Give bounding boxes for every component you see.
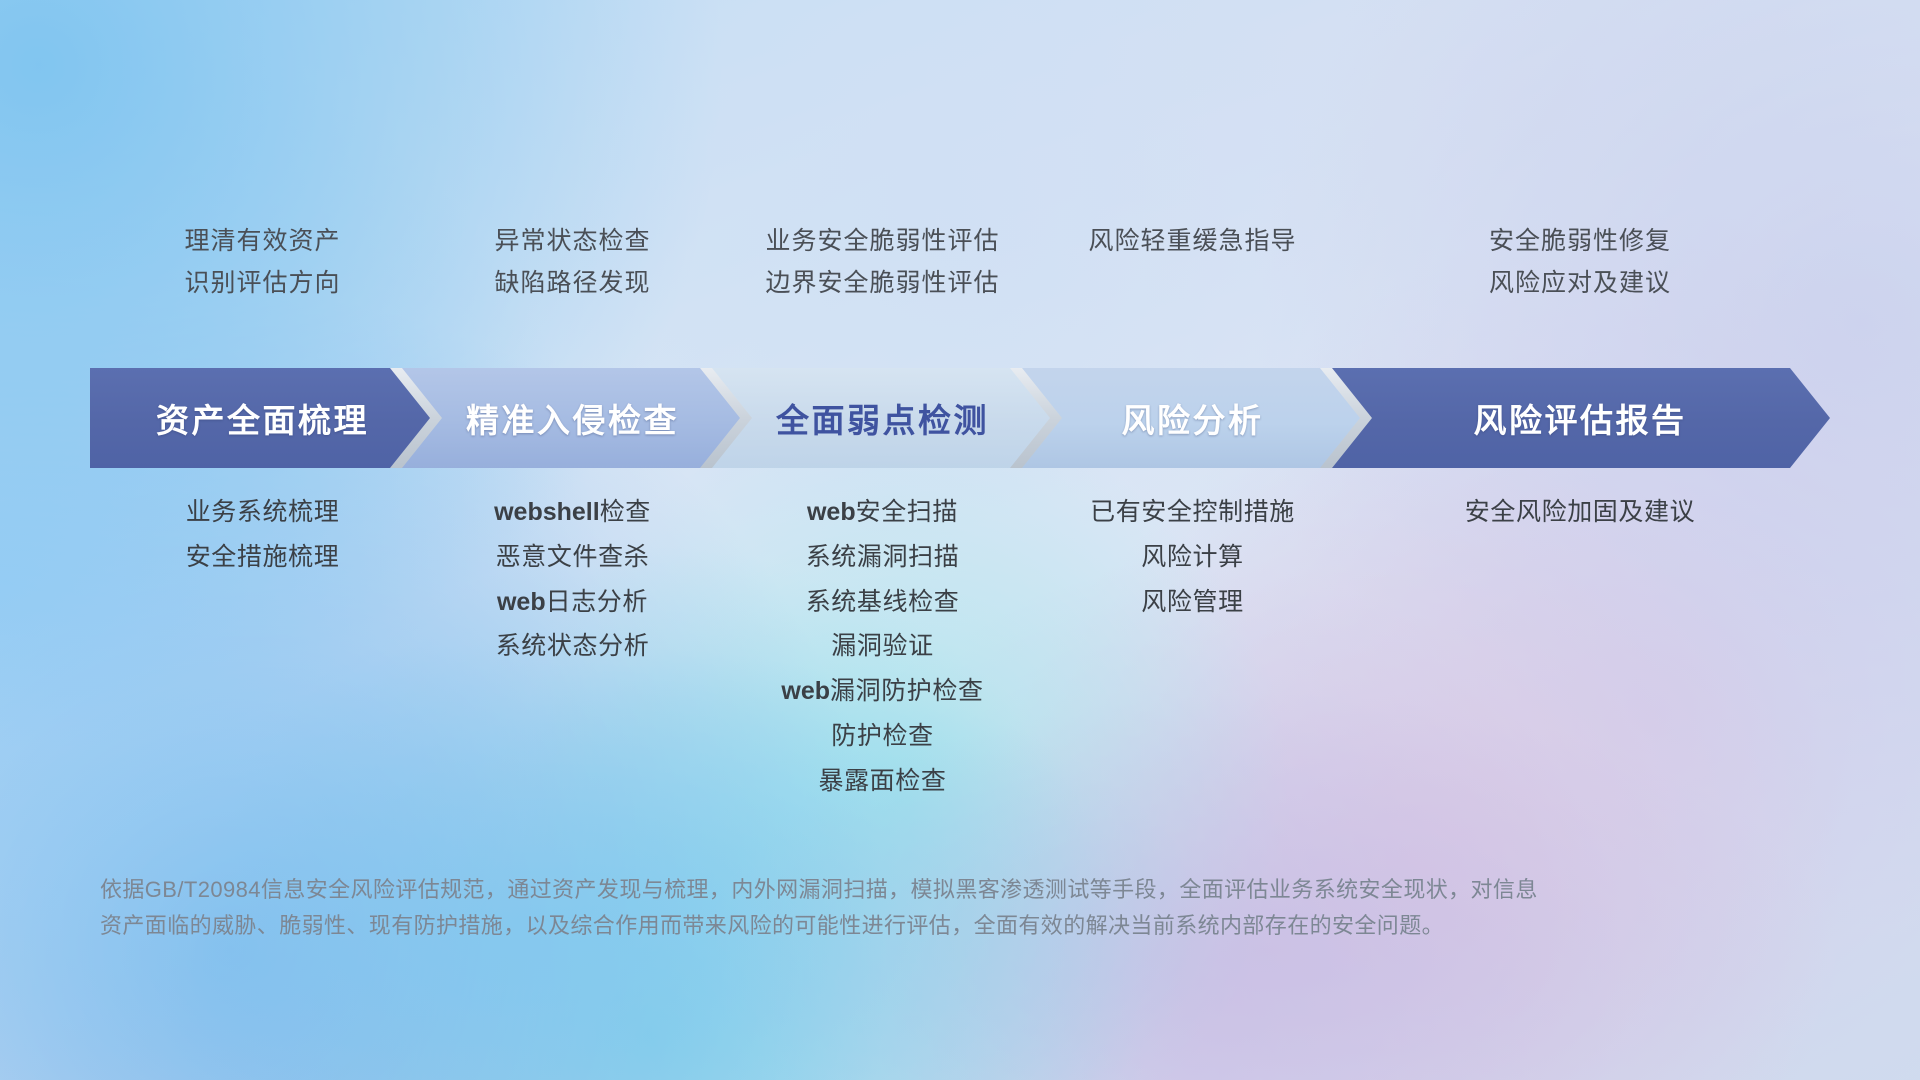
top-label-item: 边界安全脆弱性评估 bbox=[765, 270, 999, 298]
bottom-label-item: 恶意文件查杀 bbox=[496, 543, 650, 572]
bottom-labels-risk-analysis: 已有安全控制措施风险计算风险管理 bbox=[1020, 498, 1365, 616]
top-label-item: 安全脆弱性修复 bbox=[1489, 228, 1671, 256]
bottom-label-item: 防护检查 bbox=[831, 722, 933, 751]
bottom-labels-asset-inventory: 业务系统梳理安全措施梳理 bbox=[90, 498, 435, 572]
stage-label-asset-inventory: 资产全面梳理 bbox=[156, 394, 369, 442]
top-labels-risk-analysis: 风险轻重缓急指导 bbox=[1020, 228, 1365, 266]
bottom-label-item: webshell检查 bbox=[494, 498, 651, 527]
bottom-label-item: web安全扫描 bbox=[807, 498, 958, 527]
stage-label-risk-analysis: 风险分析 bbox=[1122, 394, 1264, 442]
stage-label-intrusion-check: 精准入侵检查 bbox=[466, 394, 679, 442]
bottom-labels-intrusion-check: webshell检查恶意文件查杀web日志分析系统状态分析 bbox=[400, 498, 745, 661]
bottom-label-item: 安全措施梳理 bbox=[186, 543, 340, 572]
bottom-label-item: web漏洞防护检查 bbox=[781, 677, 983, 706]
top-label-item: 风险应对及建议 bbox=[1489, 270, 1671, 298]
footer-line-2: 资产面临的威胁、脆弱性、现有防护措施，以及综合作用而带来风险的可能性进行评估，全… bbox=[100, 908, 1640, 944]
process-chevron-band: 资产全面梳理精准入侵检查全面弱点检测风险分析风险评估报告 bbox=[0, 368, 1920, 468]
bottom-label-item: 暴露面检查 bbox=[818, 767, 946, 796]
bottom-label-item: 系统漏洞扫描 bbox=[806, 543, 960, 572]
stage-label-risk-report: 风险评估报告 bbox=[1474, 394, 1687, 442]
process-stage-risk-report[interactable]: 风险评估报告 bbox=[1330, 368, 1830, 468]
label-keyword: web bbox=[497, 588, 546, 616]
bottom-labels-risk-report: 安全风险加固及建议 bbox=[1330, 498, 1830, 527]
top-label-item: 缺陷路径发现 bbox=[494, 270, 650, 298]
top-labels-asset-inventory: 理清有效资产识别评估方向 bbox=[90, 228, 435, 297]
bottom-labels-weakness-detection: web安全扫描系统漏洞扫描系统基线检查漏洞验证web漏洞防护检查防护检查暴露面检… bbox=[710, 498, 1055, 795]
process-stage-risk-analysis[interactable]: 风险分析 bbox=[1020, 368, 1365, 468]
bottom-label-item: 漏洞验证 bbox=[831, 632, 933, 661]
bottom-label-item: 安全风险加固及建议 bbox=[1465, 498, 1695, 527]
bottom-label-item: web日志分析 bbox=[497, 588, 648, 617]
footer-line-1: 依据GB/T20984信息安全风险评估规范，通过资产发现与梳理，内外网漏洞扫描，… bbox=[100, 872, 1640, 908]
top-labels-intrusion-check: 异常状态检查缺陷路径发现 bbox=[400, 228, 745, 297]
top-label-item: 理清有效资产 bbox=[184, 228, 340, 256]
process-stage-intrusion-check[interactable]: 精准入侵检查 bbox=[400, 368, 745, 468]
top-labels-weakness-detection: 业务安全脆弱性评估边界安全脆弱性评估 bbox=[710, 228, 1055, 297]
label-keyword: webshell bbox=[494, 498, 600, 526]
process-stage-asset-inventory[interactable]: 资产全面梳理 bbox=[90, 368, 435, 468]
bottom-label-item: 风险计算 bbox=[1141, 543, 1243, 572]
label-keyword: web bbox=[781, 677, 830, 705]
footer-description: 依据GB/T20984信息安全风险评估规范，通过资产发现与梳理，内外网漏洞扫描，… bbox=[100, 872, 1640, 944]
top-labels-risk-report: 安全脆弱性修复风险应对及建议 bbox=[1330, 228, 1830, 297]
stage-label-weakness-detection: 全面弱点检测 bbox=[776, 394, 989, 442]
top-label-row: 理清有效资产识别评估方向异常状态检查缺陷路径发现业务安全脆弱性评估边界安全脆弱性… bbox=[0, 228, 1920, 338]
label-keyword: web bbox=[807, 498, 856, 526]
top-label-item: 识别评估方向 bbox=[184, 270, 340, 298]
bottom-label-item: 系统基线检查 bbox=[806, 588, 960, 617]
top-label-item: 异常状态检查 bbox=[494, 228, 650, 256]
process-stage-weakness-detection[interactable]: 全面弱点检测 bbox=[710, 368, 1055, 468]
bottom-label-item: 业务系统梳理 bbox=[186, 498, 340, 527]
bottom-label-item: 系统状态分析 bbox=[496, 632, 650, 661]
bottom-label-item: 已有安全控制措施 bbox=[1090, 498, 1295, 527]
bottom-label-item: 风险管理 bbox=[1141, 588, 1243, 617]
top-label-item: 风险轻重缓急指导 bbox=[1088, 228, 1296, 256]
top-label-item: 业务安全脆弱性评估 bbox=[765, 228, 999, 256]
diagram-root: 理清有效资产识别评估方向异常状态检查缺陷路径发现业务安全脆弱性评估边界安全脆弱性… bbox=[0, 0, 1920, 1080]
